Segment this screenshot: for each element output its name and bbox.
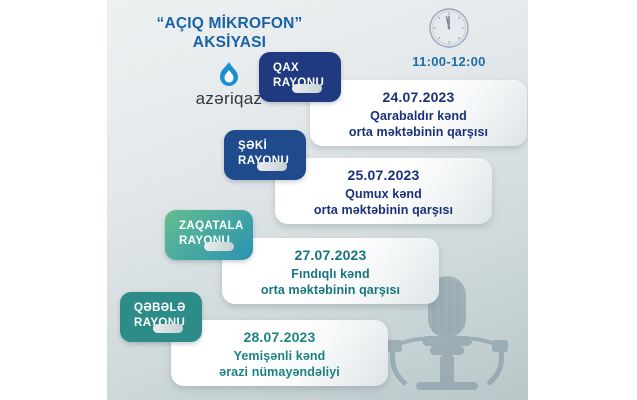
event-place-line-1: Qarabaldır kənd [310, 108, 527, 124]
event-card[interactable]: 25.07.2023 Qumux kənd orta məktəbinin qa… [275, 158, 492, 224]
event-date: 24.07.2023 [310, 89, 527, 105]
event-date: 27.07.2023 [222, 247, 439, 263]
connector-stub [204, 242, 234, 251]
headline-line-1: “AÇIQ MİKROFON” [117, 14, 342, 33]
event-place-line-2: ərazi nümayəndəliyi [171, 364, 388, 380]
event-place-line-2: orta məktəbinin qarşısı [310, 124, 527, 140]
region-tag[interactable]: ŞƏKİ RAYONU [224, 130, 306, 180]
region-tag[interactable]: QAX RAYONU [259, 52, 341, 102]
event-card[interactable]: 27.07.2023 Fındıqlı kənd orta məktəbinin… [222, 238, 439, 304]
connector-stub [257, 162, 287, 171]
headline-line-2: AKSİYASI [117, 33, 342, 52]
region-line-1: QƏBƏLƏ [134, 302, 186, 314]
event-place-line-1: Fındıqlı kənd [222, 266, 439, 282]
event-date: 28.07.2023 [171, 329, 388, 345]
event-place-line-2: orta məktəbinin qarşısı [222, 282, 439, 298]
region-line-1: ŞƏKİ [238, 140, 267, 152]
event-card[interactable]: 24.07.2023 Qarabaldır kənd orta məktəbin… [310, 80, 527, 146]
event-card[interactable]: 28.07.2023 Yemişənli kənd ərazi nümayənd… [171, 320, 388, 386]
event-place-line-1: Yemişənli kənd [171, 348, 388, 364]
region-line-1: QAX [273, 62, 299, 74]
event-place-line-1: Qumux kənd [275, 186, 492, 202]
connector-stub [153, 324, 183, 333]
event-date: 25.07.2023 [275, 167, 492, 183]
page-title: “AÇIQ MİKROFON” AKSİYASI [117, 14, 342, 52]
connector-stub [292, 84, 322, 93]
flame-icon [218, 62, 240, 88]
event-place-line-2: orta məktəbinin qarşısı [275, 202, 492, 218]
region-tag[interactable]: ZAQATALA RAYONU [165, 210, 253, 260]
schedule-time: 11:00-12:00 [394, 6, 504, 69]
region-tag[interactable]: QƏBƏLƏ RAYONU [120, 292, 202, 342]
time-range-label: 11:00-12:00 [394, 54, 504, 69]
clock-icon [427, 6, 471, 50]
poster-canvas: “AÇIQ MİKROFON” AKSİYASI azəriqaz [107, 0, 528, 400]
region-line-1: ZAQATALA [179, 220, 244, 232]
